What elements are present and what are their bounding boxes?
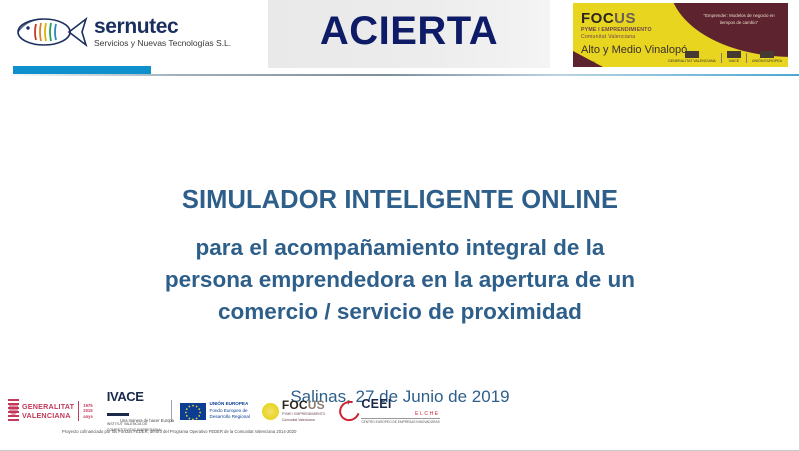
ivace-bar-decor xyxy=(107,413,129,416)
generalitat-shield-icon xyxy=(8,399,19,423)
generalitat-divider xyxy=(78,401,79,421)
focus-banner-line2: Comunitat Valenciana xyxy=(581,34,635,40)
subtitle-line-2: persona emprendedora en la apertura de u… xyxy=(100,264,700,296)
focus-footer-sub-1: PYME I EMPRENDIMIENTO xyxy=(282,412,325,417)
sernutec-logo: sernutec Servicios y Nuevas Tecnologías … xyxy=(12,8,252,56)
fish-icon xyxy=(12,10,90,54)
presentation-slide: sernutec Servicios y Nuevas Tecnologías … xyxy=(0,0,800,451)
company-name: sernutec xyxy=(94,16,231,38)
european-union-logo: UNIÓN EUROPEA Fondo Europeo de Desarroll… xyxy=(180,396,250,426)
generalitat-anniversary: 1975 2015 anys xyxy=(83,403,93,419)
eu-flag-icon xyxy=(180,403,206,420)
page-subtitle: para el acompañamiento integral de la pe… xyxy=(100,232,700,328)
slide-header: sernutec Servicios y Nuevas Tecnologías … xyxy=(0,0,800,70)
focus-footer-logo: FOCUS PYME I EMPRENDIMIENTO Comunitat Va… xyxy=(262,396,325,426)
acierta-panel: ACIERTA xyxy=(268,0,550,68)
banner-partner-generalitat: GENERALITAT VALENCIANA xyxy=(668,51,716,63)
company-tagline: Servicios y Nuevas Tecnologías S.L. xyxy=(94,39,231,48)
focus-sun-icon xyxy=(262,403,279,420)
ceei-name: CEEI xyxy=(361,398,439,411)
header-divider-line xyxy=(0,74,800,76)
focus-banner: FOCUS PYME I EMPRENDIMIENTO Comunitat Va… xyxy=(573,3,788,67)
banner-partner-ivace: IVACE xyxy=(727,51,741,63)
eu-text-block: UNIÓN EUROPEA Fondo Europeo de Desarroll… xyxy=(210,401,250,420)
focus-footer-wordmark: FOCUS xyxy=(282,399,325,411)
slide-footer: GENERALITAT VALENCIANA 1975 2015 anys IV… xyxy=(0,388,800,450)
subtitle-line-1: para el acompañamiento integral de la xyxy=(100,232,700,264)
eu-sub-2: Desarrollo Regional xyxy=(210,414,250,420)
footer-logo-strip: GENERALITAT VALENCIANA 1975 2015 anys IV… xyxy=(8,396,440,426)
subtitle-line-3: comercio / servicio de proximidad xyxy=(100,296,700,328)
focus-banner-line1: PYME I EMPRENDIMIENTO xyxy=(581,27,652,33)
ceei-sub: CENTRO EUROPEO DE EMPRESAS INNOVADORAS xyxy=(361,418,439,424)
eu-title: UNIÓN EUROPEA xyxy=(210,401,250,407)
focus-banner-wordmark: FOCUS xyxy=(581,10,636,27)
eu-funding-phrase: Una manera de hacer Europa xyxy=(120,418,174,423)
ceei-city: ELCHE xyxy=(361,411,439,418)
focus-footer-sub-2: Comunitat Valenciana xyxy=(282,418,325,423)
banner-logo-divider xyxy=(721,53,722,63)
page-title: SIMULADOR INTELIGENTE ONLINE xyxy=(0,186,800,215)
generalitat-name: GENERALITAT VALENCIANA xyxy=(22,402,74,420)
generalitat-valenciana-logo: GENERALITAT VALENCIANA 1975 2015 anys xyxy=(8,396,93,426)
focus-banner-quote: "Emprender: Modelos de negocio en tiempo… xyxy=(700,13,778,26)
ceei-swoosh-icon xyxy=(336,397,364,425)
banner-logo-divider-2 xyxy=(746,53,747,63)
focus-banner-cdt-label: CDT xyxy=(587,60,595,65)
funding-fine-print: Proyecto cofinanciado por los Fondos FED… xyxy=(62,429,296,434)
banner-partner-eu: UNIÓN EUROPEA xyxy=(752,51,782,63)
project-badge: ACIERTA xyxy=(268,0,550,68)
ivace-name: IVACE xyxy=(107,390,163,403)
ceei-elche-logo: CEEI ELCHE CENTRO EUROPEO DE EMPRESAS IN… xyxy=(339,396,439,426)
focus-banner-partner-logos: GENERALITAT VALENCIANA IVACE UNIÓN EUROP… xyxy=(668,51,782,63)
blue-accent-bar xyxy=(13,66,151,74)
